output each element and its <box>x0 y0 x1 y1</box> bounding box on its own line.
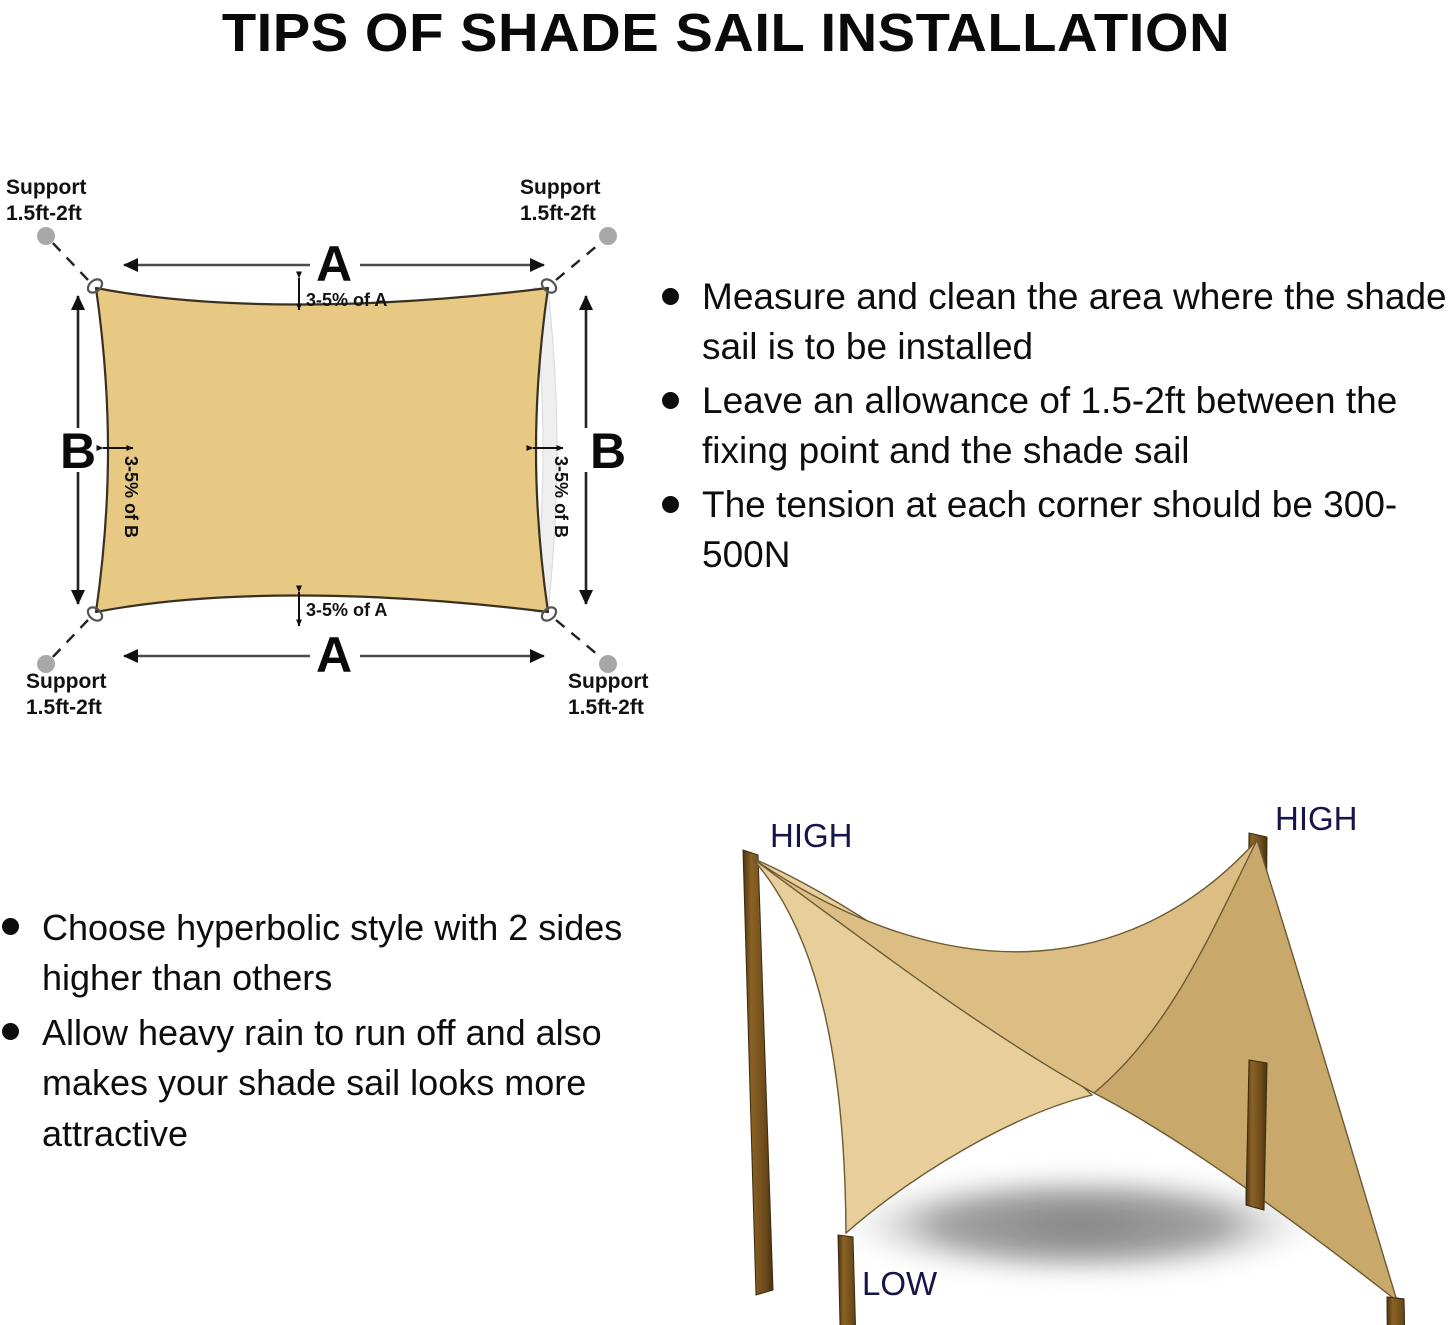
support-label-top-left-line1: Support <box>6 176 86 199</box>
curvature-label-left: 3-5% of B <box>121 456 141 538</box>
dimension-label-A-top: A <box>316 236 352 292</box>
list-item-label: Choose hyperbolic style with 2 sides hig… <box>2 903 638 1004</box>
post-high-right-front <box>1246 1060 1267 1210</box>
dimension-height-right: B <box>586 296 626 604</box>
support-label-bottom-left-line1: Support <box>26 670 106 693</box>
list-item: Measure and clean the area where the sha… <box>662 272 1452 371</box>
corner-label-high-right: HIGH <box>1275 800 1358 837</box>
dimension-width-bottom: A <box>124 627 544 683</box>
ground-shadow <box>845 1173 1315 1277</box>
support-dot-top-right <box>599 227 617 245</box>
list-item-label: Measure and clean the area where the sha… <box>662 272 1452 371</box>
tips-list-installation: Measure and clean the area where the sha… <box>662 272 1452 584</box>
post-low-left <box>838 1235 858 1325</box>
list-item-label: The tension at each corner should be 300… <box>662 480 1452 579</box>
bullet-dot-icon <box>662 288 679 305</box>
support-label-top-right-line1: Support <box>520 176 600 199</box>
bullet-dot-icon <box>662 496 679 513</box>
list-item: Leave an allowance of 1.5-2ft between th… <box>662 376 1452 475</box>
curvature-label-right: 3-5% of B <box>551 456 571 538</box>
shade-sail-shape <box>96 288 548 612</box>
list-item: Allow heavy rain to run off and also mak… <box>2 1008 638 1159</box>
bullet-dot-icon <box>2 1023 19 1040</box>
infographic-page: TIPS OF SHADE SAIL INSTALLATION <box>0 0 1452 1325</box>
curvature-label-top: 3-5% of A <box>306 290 387 310</box>
page-title: TIPS OF SHADE SAIL INSTALLATION <box>0 2 1452 64</box>
dimension-label-B-left: B <box>60 423 96 479</box>
rectangular-sail-diagram: Support 1.5ft-2ft Support 1.5ft-2ft Supp… <box>0 160 660 740</box>
post-low-right-front <box>1387 1297 1408 1325</box>
dimension-width-top: A <box>124 236 544 292</box>
bullet-dot-icon <box>662 392 679 409</box>
support-label-top-left-line2: 1.5ft-2ft <box>6 202 82 225</box>
list-item-label: Allow heavy rain to run off and also mak… <box>2 1008 638 1159</box>
support-dot-top-left <box>37 227 55 245</box>
tips-list-hyperbolic: Choose hyperbolic style with 2 sides hig… <box>2 903 638 1163</box>
curvature-label-bottom: 3-5% of A <box>306 600 387 620</box>
list-item: The tension at each corner should be 300… <box>662 480 1452 579</box>
dimension-label-A-bottom: A <box>316 627 352 683</box>
corner-label-low-left: LOW <box>862 1265 938 1302</box>
list-item-label: Leave an allowance of 1.5-2ft between th… <box>662 376 1452 475</box>
support-label-top-right-line2: 1.5ft-2ft <box>520 202 596 225</box>
post-high-left <box>743 850 773 1295</box>
dimension-height-left: B <box>60 296 96 604</box>
dimension-label-B-right: B <box>590 423 626 479</box>
corner-label-high-left: HIGH <box>770 817 853 854</box>
support-label-bottom-right-line2: 1.5ft-2ft <box>568 696 644 719</box>
support-label-bottom-left-line2: 1.5ft-2ft <box>26 696 102 719</box>
bullet-dot-icon <box>2 918 19 935</box>
support-label-bottom-right-line1: Support <box>568 670 648 693</box>
hyperbolic-sail-diagram: HIGH HIGH LOW LOW <box>660 785 1452 1325</box>
list-item: Choose hyperbolic style with 2 sides hig… <box>2 903 638 1004</box>
